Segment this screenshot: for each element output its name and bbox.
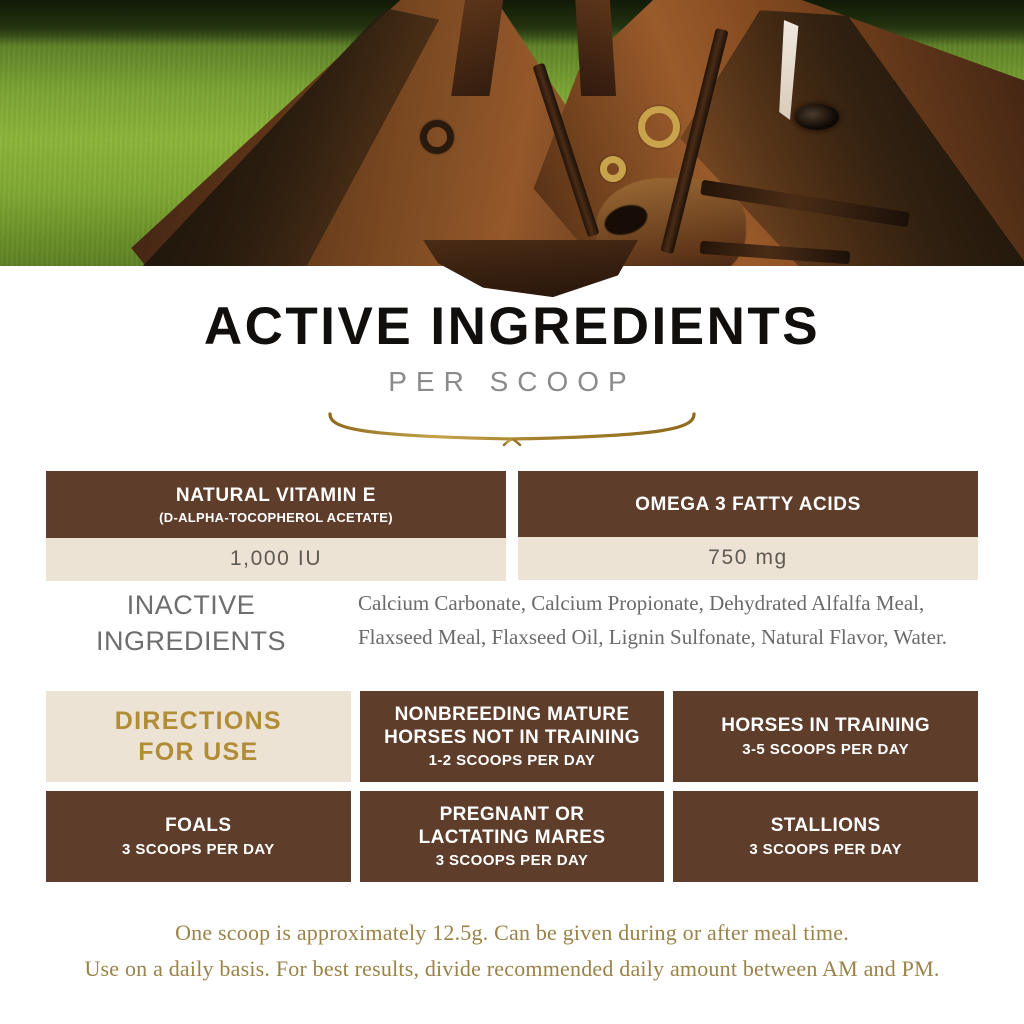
halter-ring-gold-side [600,156,626,182]
inactive-label-line1: INACTIVE [46,588,336,624]
cell-title-line1: PREGNANT OR [440,804,585,827]
cell-title-line2: LACTATING MARES [419,827,606,850]
cell-dose: 3-5 SCOOPS PER DAY [742,741,909,758]
directions-cell-stallions: STALLIONS 3 SCOOPS PER DAY [673,791,978,882]
cell-title-line1: STALLIONS [771,815,881,838]
cell-title-line1: FOALS [165,815,231,838]
directions-heading-line2: FOR USE [138,737,258,768]
inactive-list-line2: Flaxseed Meal, Flaxseed Oil, Lignin Sulf… [358,620,978,654]
ingredient-header: OMEGA 3 FATTY ACIDS [518,471,978,537]
footer-note: One scoop is approximately 12.5g. Can be… [0,915,1024,986]
directions-heading-cell: DIRECTIONS FOR USE [46,691,351,782]
header-block: ACTIVE INGREDIENTS PER SCOOP [0,300,1024,448]
ingredient-name: OMEGA 3 FATTY ACIDS [528,494,968,516]
inactive-ingredients-label: INACTIVE INGREDIENTS [46,586,336,659]
inactive-list-line1: Calcium Carbonate, Calcium Propionate, D… [358,586,978,620]
page-subtitle: PER SCOOP [0,366,1024,398]
footer-line1: One scoop is approximately 12.5g. Can be… [0,915,1024,951]
directions-cell-pregnant-lactating: PREGNANT OR LACTATING MARES 3 SCOOPS PER… [360,791,665,882]
inactive-ingredients-list: Calcium Carbonate, Calcium Propionate, D… [358,586,978,654]
cell-title-line1: NONBREEDING MATURE [395,704,630,727]
page-title: ACTIVE INGREDIENTS [0,300,1024,353]
halter-ring-gold-upper [638,106,680,148]
ingredient-column-omega-3: OMEGA 3 FATTY ACIDS 750 mg [518,471,978,581]
inactive-label-line2: INGREDIENTS [46,624,336,660]
directions-grid: DIRECTIONS FOR USE NONBREEDING MATURE HO… [46,691,978,882]
cell-dose: 1-2 SCOOPS PER DAY [429,752,596,769]
cell-title-line1: HORSES IN TRAINING [721,715,930,738]
active-ingredients-table: NATURAL VITAMIN E (D-ALPHA-TOCOPHEROL AC… [46,471,978,581]
directions-heading-line1: DIRECTIONS [115,706,282,737]
ingredient-column-vitamin-e: NATURAL VITAMIN E (D-ALPHA-TOCOPHEROL AC… [46,471,506,581]
cell-dose: 3 SCOOPS PER DAY [122,841,275,858]
ingredient-header: NATURAL VITAMIN E (D-ALPHA-TOCOPHEROL AC… [46,471,506,538]
ingredient-chemical-name: (D-ALPHA-TOCOPHEROL ACETATE) [56,510,496,525]
hero-photo [0,0,1024,268]
horse-eye [795,104,839,130]
footer-line2: Use on a daily basis. For best results, … [0,951,1024,987]
ingredient-amount: 1,000 IU [46,538,506,581]
directions-cell-foals: FOALS 3 SCOOPS PER DAY [46,791,351,882]
cell-dose: 3 SCOOPS PER DAY [436,852,589,869]
halter-ring-dark [420,120,454,154]
directions-cell-nonbreeding: NONBREEDING MATURE HORSES NOT IN TRAININ… [360,691,665,782]
inactive-ingredients-section: INACTIVE INGREDIENTS Calcium Carbonate, … [46,586,978,659]
cell-dose: 3 SCOOPS PER DAY [749,841,902,858]
ingredient-amount: 750 mg [518,537,978,580]
ingredient-name: NATURAL VITAMIN E [56,485,496,507]
directions-cell-horses-in-training: HORSES IN TRAINING 3-5 SCOOPS PER DAY [673,691,978,782]
cell-title-line2: HORSES NOT IN TRAINING [384,727,640,750]
flourish-divider-icon [0,412,1024,448]
